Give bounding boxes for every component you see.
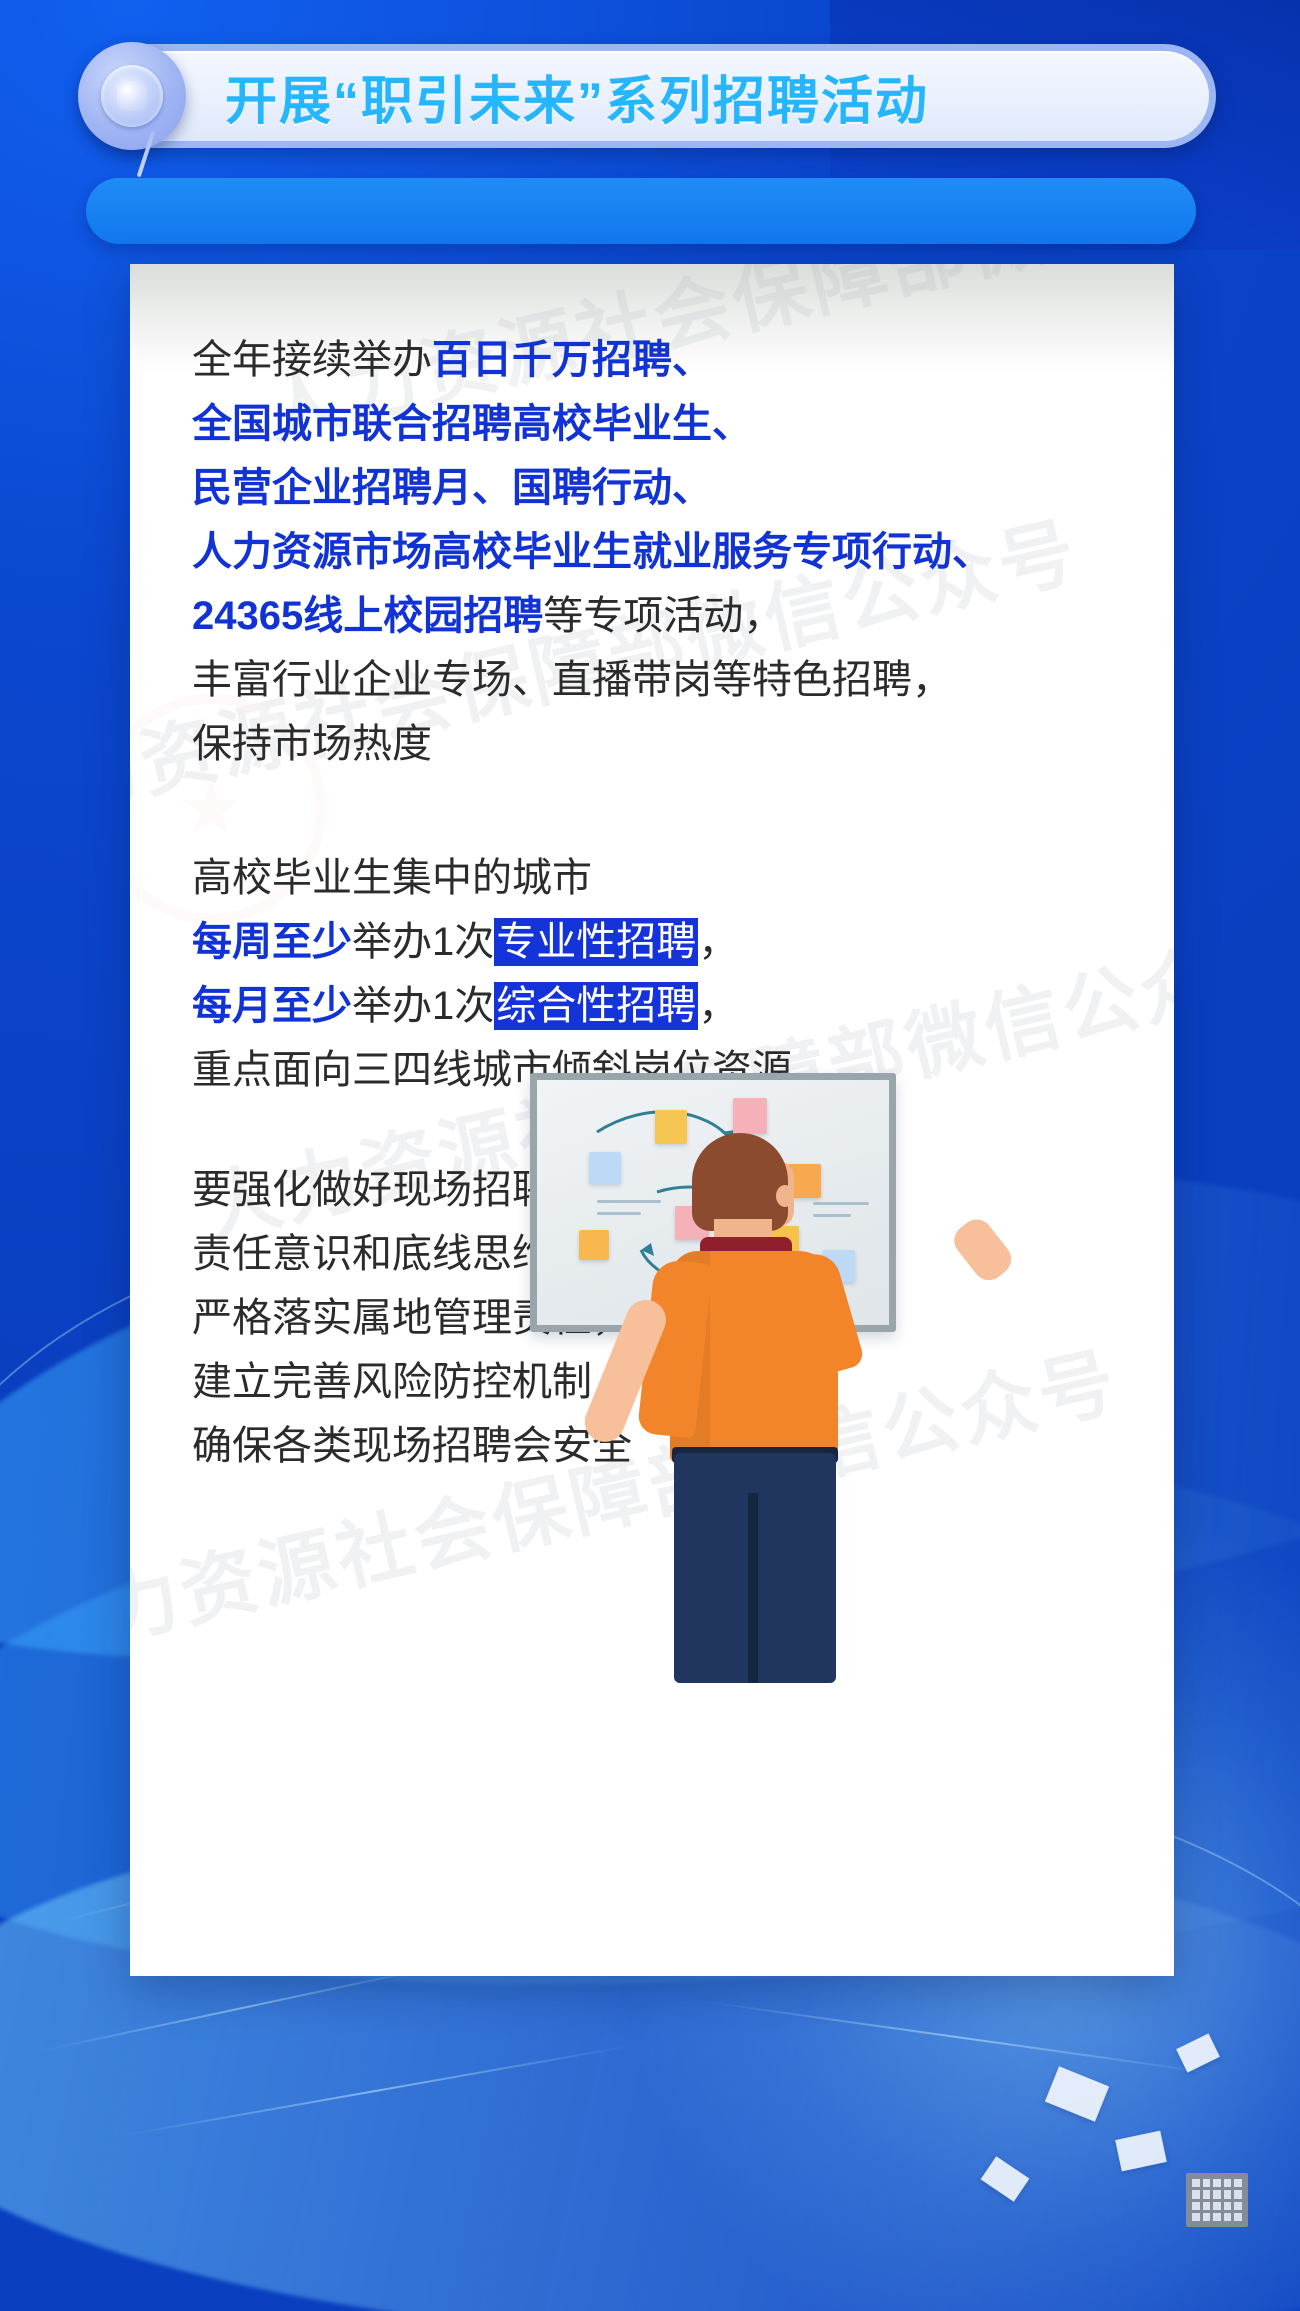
paragraph-spacer xyxy=(192,776,1134,846)
text-line: 每月至少举办1次综合性招聘， xyxy=(192,974,1134,1038)
text-run-bold: 、 xyxy=(712,402,752,446)
poster-root: 开展“职引未来”系列招聘活动 人力资源社会保障部微信公众号 人力资源社会保障部微… xyxy=(0,0,1300,2311)
text-run-bold: 、 xyxy=(472,466,512,510)
paragraph-2: 高校毕业生集中的城市 每周至少举办1次专业性招聘， 每月至少举办1次综合性招聘，… xyxy=(192,846,1134,1102)
text-run: 举办1次 xyxy=(352,920,494,964)
person-hair xyxy=(692,1133,788,1231)
title-bar: 开展“职引未来”系列招聘活动 xyxy=(86,44,1216,148)
sticky-note xyxy=(579,1230,609,1260)
page-title: 开展“职引未来”系列招聘活动 xyxy=(225,59,929,134)
text-run-highlight: 综合性招聘 xyxy=(494,982,698,1030)
text-run: 保持市场热度 xyxy=(192,722,432,766)
title-pill: 开展“职引未来”系列招聘活动 xyxy=(86,44,1216,148)
board-scribble xyxy=(597,1212,641,1215)
text-run-bold: 24365线上校园招聘 xyxy=(192,594,543,638)
text-run-bold: 全国城市联合招聘高校毕业生 xyxy=(192,402,712,446)
text-run-bold: 人力资源市场高校毕业生就业服务专项行动 xyxy=(192,530,952,574)
man-writing-on-board xyxy=(648,1133,878,1563)
building-icon xyxy=(1186,2173,1248,2227)
text-run-bold: 国聘行动 xyxy=(512,466,672,510)
text-run: 丰富行业企业专场、直播带岗等特色招聘， xyxy=(192,658,952,702)
text-run: ， xyxy=(698,920,738,964)
text-run-bold: 、 xyxy=(672,338,712,382)
text-line: 全年接续举办百日千万招聘、 xyxy=(192,328,1134,392)
text-line: 保持市场热度 xyxy=(192,712,1134,776)
building-windows xyxy=(1192,2179,1242,2221)
text-run-bold: 民营企业招聘月 xyxy=(192,466,472,510)
text-line: 全国城市联合招聘高校毕业生、 xyxy=(192,392,1134,456)
person-leg-split xyxy=(748,1493,758,1683)
text-line: 人力资源市场高校毕业生就业服务专项行动、 xyxy=(192,520,1134,584)
secondary-pill xyxy=(86,178,1196,244)
text-run: ， xyxy=(698,984,738,1028)
paragraph-1: 全年接续举办百日千万招聘、 全国城市联合招聘高校毕业生、 民营企业招聘月、国聘行… xyxy=(192,328,1134,776)
text-run: 建立完善风险防控机制， xyxy=(192,1360,632,1404)
text-run-bold: 每周至少 xyxy=(192,920,352,964)
text-run-bold: 每月至少 xyxy=(192,984,352,1028)
man-at-whiteboard-illustration xyxy=(530,1073,890,1358)
text-run: 举办1次 xyxy=(352,984,494,1028)
person-ear xyxy=(776,1185,794,1207)
text-run-bold: 、 xyxy=(672,466,712,510)
magnifier-knob-icon xyxy=(78,42,186,150)
sticky-note xyxy=(733,1098,767,1134)
text-run: 高校毕业生集中的城市 xyxy=(192,856,592,900)
text-line: 丰富行业企业专场、直播带岗等特色招聘， xyxy=(192,648,1134,712)
text-line: 民营企业招聘月、国聘行动、 xyxy=(192,456,1134,520)
text-line: 每周至少举办1次专业性招聘， xyxy=(192,910,1134,974)
text-run-highlight: 专业性招聘 xyxy=(494,918,698,966)
text-run: 等专项活动， xyxy=(543,594,783,638)
text-line: 高校毕业生集中的城市 xyxy=(192,846,1134,910)
sticky-note xyxy=(589,1152,621,1184)
text-line: 24365线上校园招聘等专项活动， xyxy=(192,584,1134,648)
text-run-bold: 、 xyxy=(952,530,992,574)
text-run: 全年接续举办 xyxy=(192,338,432,382)
text-run: 确保各类现场招聘会安全 xyxy=(192,1424,632,1468)
text-run-bold: 百日千万招聘 xyxy=(432,338,672,382)
